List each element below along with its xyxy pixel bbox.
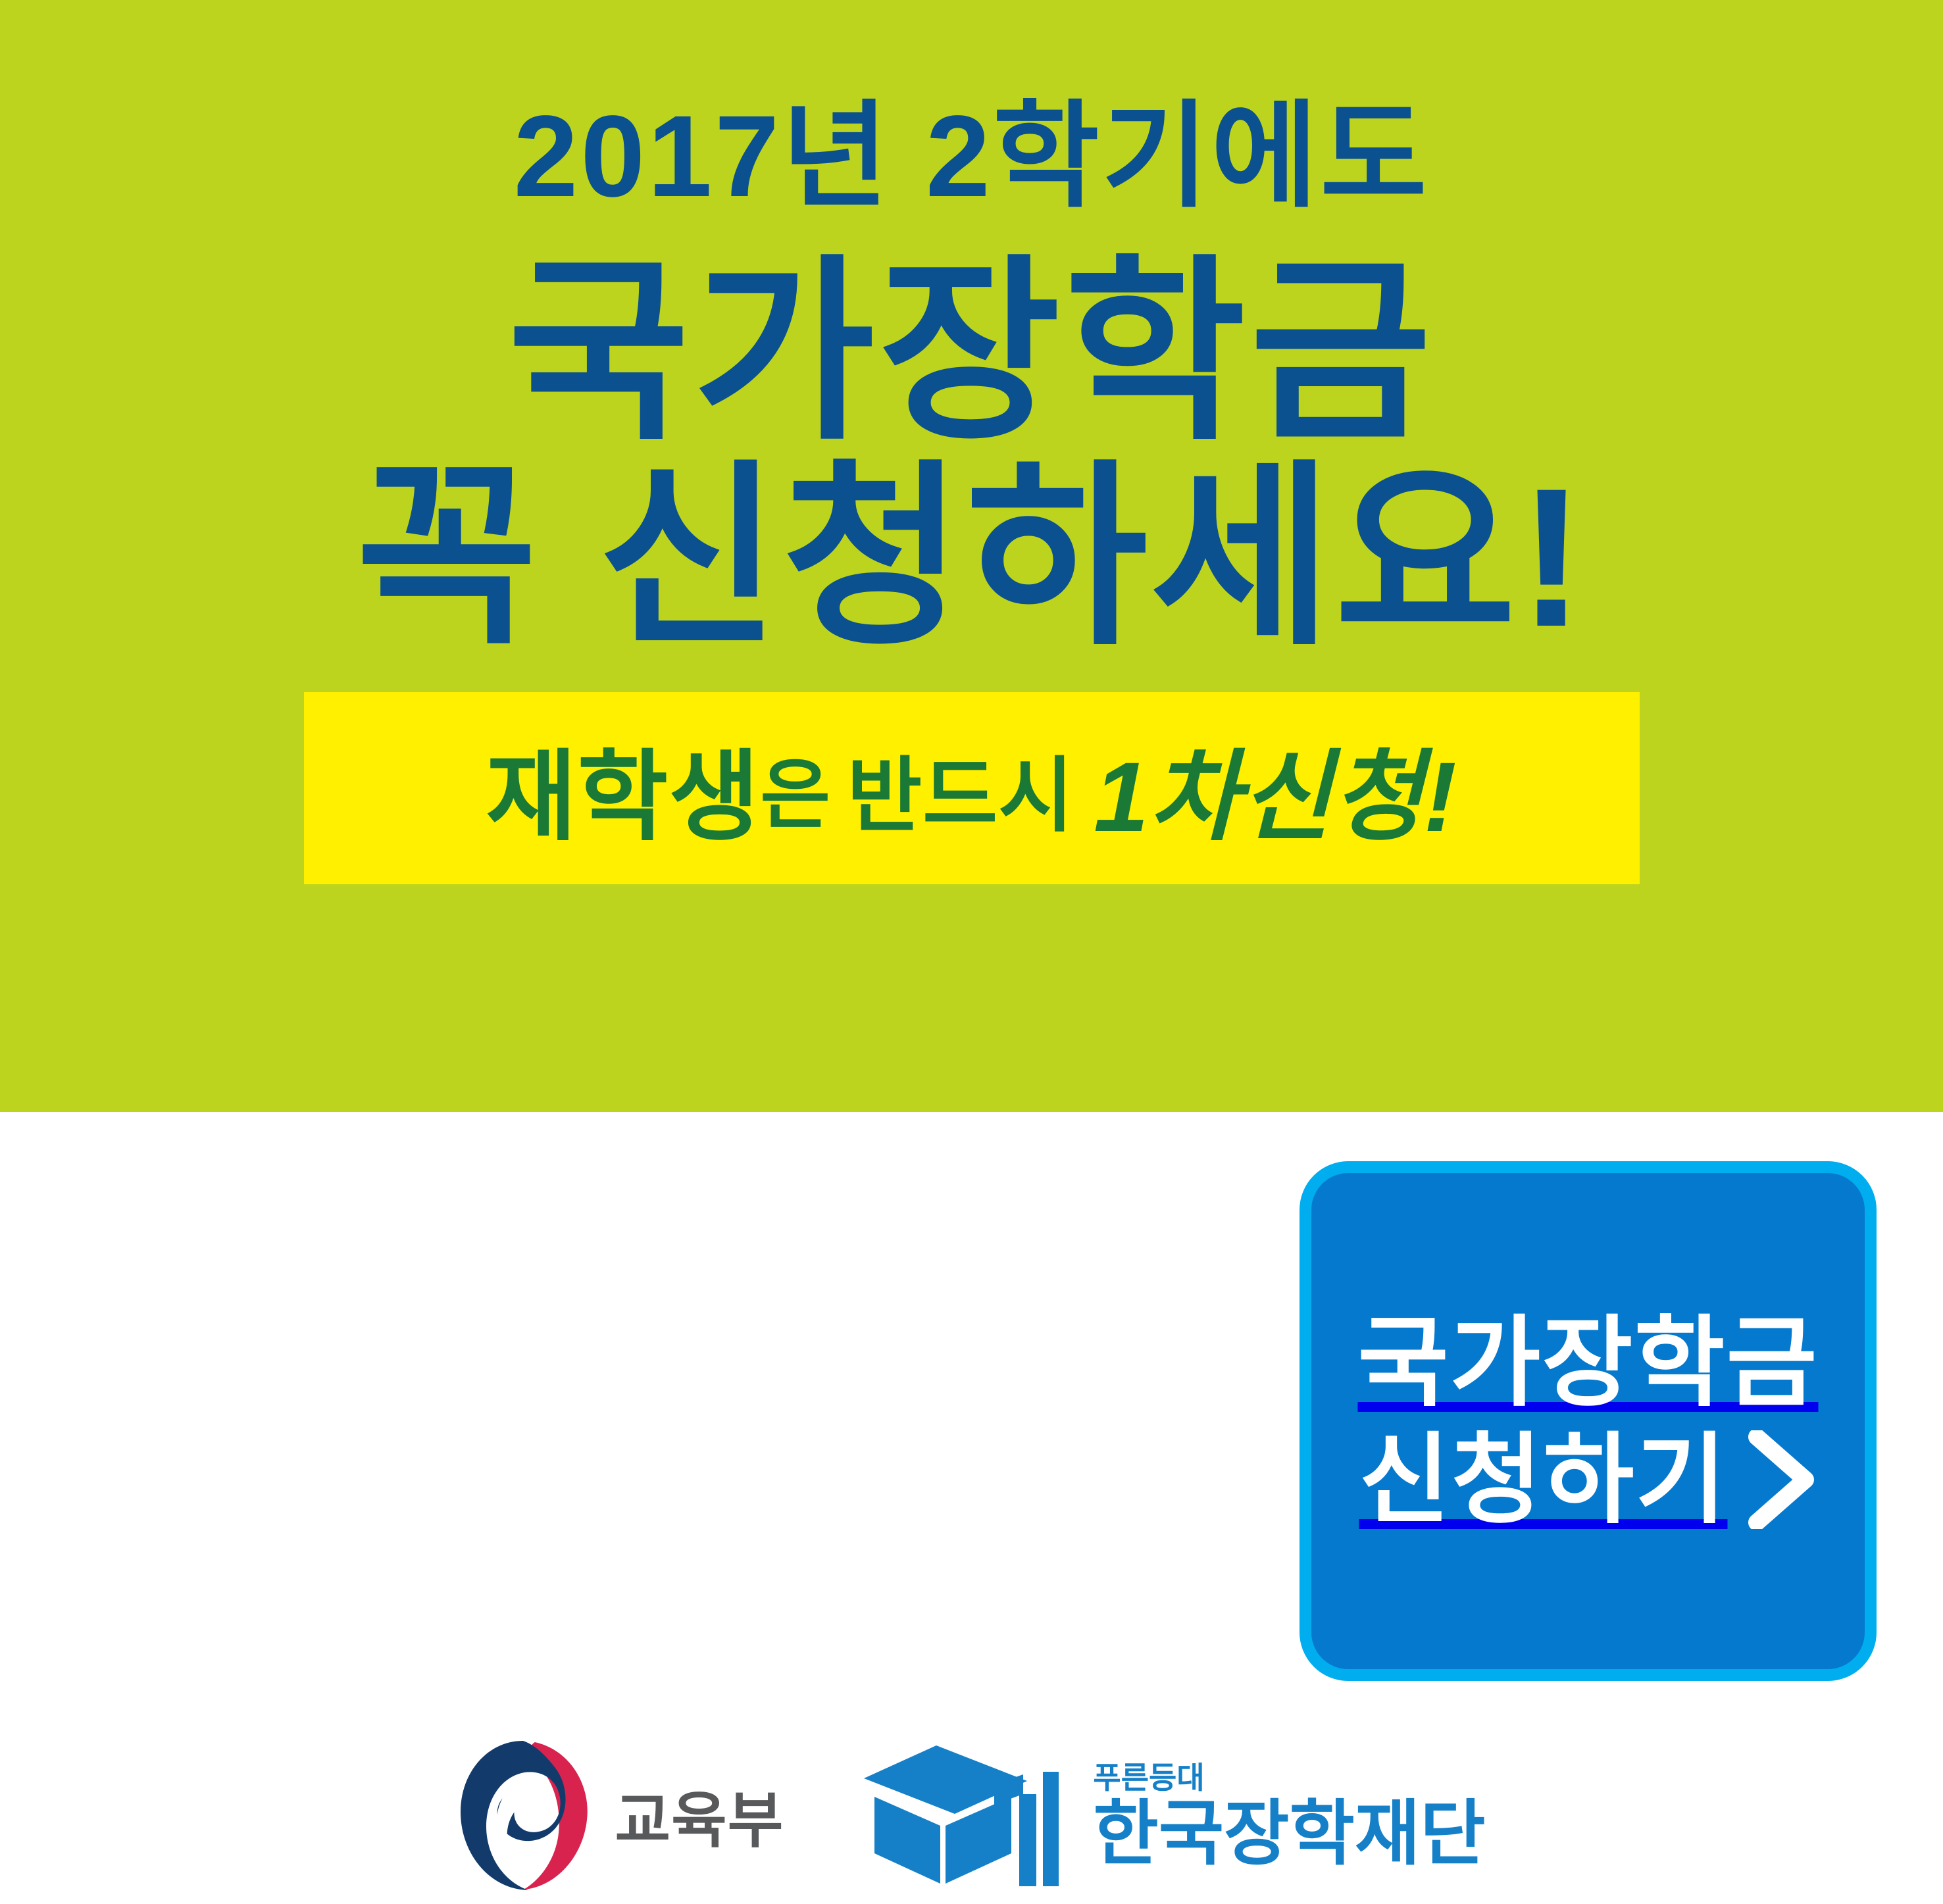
apply-button-label-line2-row: 신청하기 [1359,1424,1817,1535]
kosaf-logo: 푸른등대 한국장학재단 [863,1734,1485,1898]
apply-button-label-line2: 신청하기 [1359,1424,1727,1535]
footer-logos: 교육부 푸른등대 한국장학재단 [0,1727,1943,1904]
hero-title-primary: 국가장학금 [508,255,1436,449]
highlight-callout-box: 재학생 은 반드시 1차신청! [304,692,1640,884]
highlight-particle: 은 [760,733,831,843]
highlight-adverb: 반드시 [847,729,1074,847]
chevron-right-icon [1745,1430,1817,1529]
ministry-of-education-logo: 교육부 [457,1738,784,1893]
kosaf-sub-name: 푸른등대 [1093,1763,1485,1793]
apply-button-label-line1: 국가장학금 [1357,1307,1818,1418]
kosaf-wordmark: 푸른등대 한국장학재단 [1093,1763,1485,1869]
ministry-of-education-name: 교육부 [615,1772,784,1859]
hero-title-secondary: 꼭 신청하세요! [356,461,1587,654]
hero-subtitle: 2017년 2학기에도 [514,99,1430,214]
highlight-emphasis-1: 재학생 [486,717,760,860]
hero-section: 2017년 2학기에도 국가장학금 꼭 신청하세요! 재학생 은 반드시 1차신… [0,0,1943,1112]
graduation-cap-icon [863,1734,1067,1898]
korea-government-taegeuk-emblem [457,1738,592,1893]
highlight-emphasis-2: 1차신청! [1094,717,1457,860]
scholarship-promo-banner: 2017년 2학기에도 국가장학금 꼭 신청하세요! 재학생 은 반드시 1차신… [0,0,1943,1904]
kosaf-name: 한국장학재단 [1093,1798,1485,1869]
apply-scholarship-button[interactable]: 국가장학금 신청하기 [1300,1161,1877,1681]
